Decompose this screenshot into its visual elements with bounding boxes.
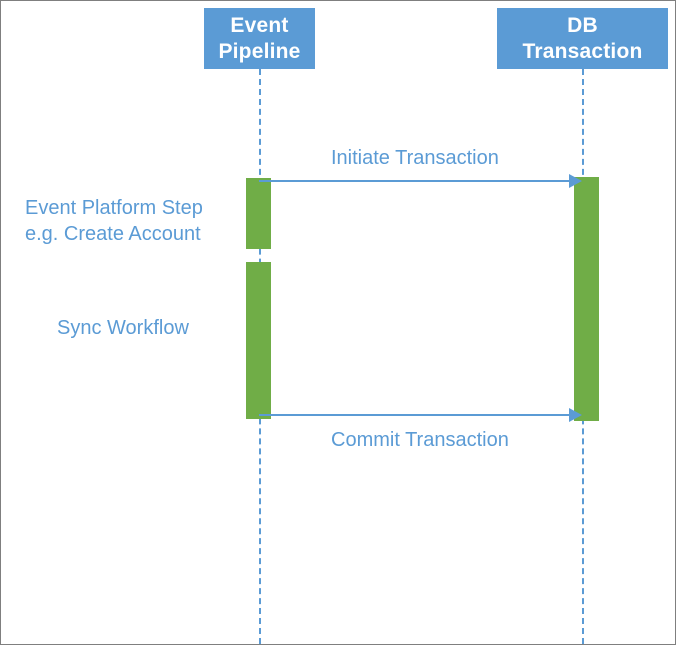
message-arrow-commit-transaction: [259, 408, 582, 422]
activation-bar-event-pipeline-sync: [246, 262, 271, 419]
message-label-commit-transaction: Commit Transaction: [331, 428, 509, 452]
message-label-initiate-transaction: Initiate Transaction: [331, 146, 499, 170]
annotation-event-platform-step-line1: Event Platform Step: [25, 195, 203, 221]
activation-bar-event-pipeline-initiate: [246, 178, 271, 249]
annotation-sync-workflow: Sync Workflow: [57, 315, 189, 341]
participant-db-transaction[interactable]: DB Transaction: [497, 8, 668, 69]
participant-db-transaction-line2: Transaction: [522, 39, 642, 65]
message-arrow-initiate-transaction: [259, 174, 582, 188]
annotation-sync-workflow-line1: Sync Workflow: [57, 315, 189, 341]
sequence-diagram-canvas: Event Pipeline DB Transaction Initiate T…: [0, 0, 676, 645]
activation-bar-db-transaction: [574, 177, 599, 421]
participant-event-pipeline[interactable]: Event Pipeline: [204, 8, 315, 69]
participant-db-transaction-line1: DB: [567, 13, 598, 39]
annotation-event-platform-step-line2: e.g. Create Account: [25, 221, 203, 247]
annotation-event-platform-step: Event Platform Step e.g. Create Account: [25, 195, 203, 247]
participant-event-pipeline-line1: Event: [230, 13, 288, 39]
participant-event-pipeline-line2: Pipeline: [218, 39, 300, 65]
